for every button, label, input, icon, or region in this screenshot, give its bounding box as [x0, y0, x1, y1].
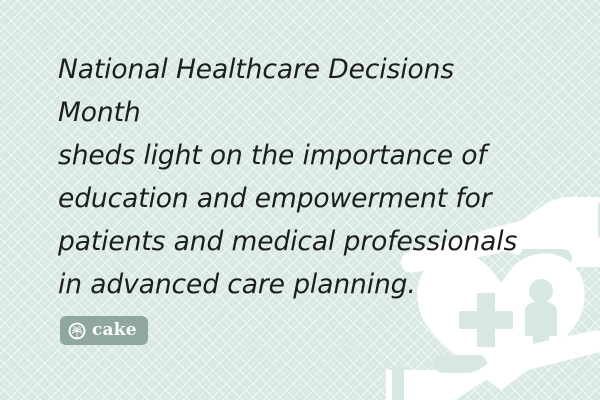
page-title: National Healthcare Decisions Month shed…	[58, 48, 528, 306]
cake-emblem-icon	[68, 322, 86, 340]
cake-logo[interactable]: cake	[60, 316, 148, 345]
cake-wordmark: cake	[92, 322, 137, 339]
promo-card: National Healthcare Decisions Month shed…	[0, 0, 600, 400]
